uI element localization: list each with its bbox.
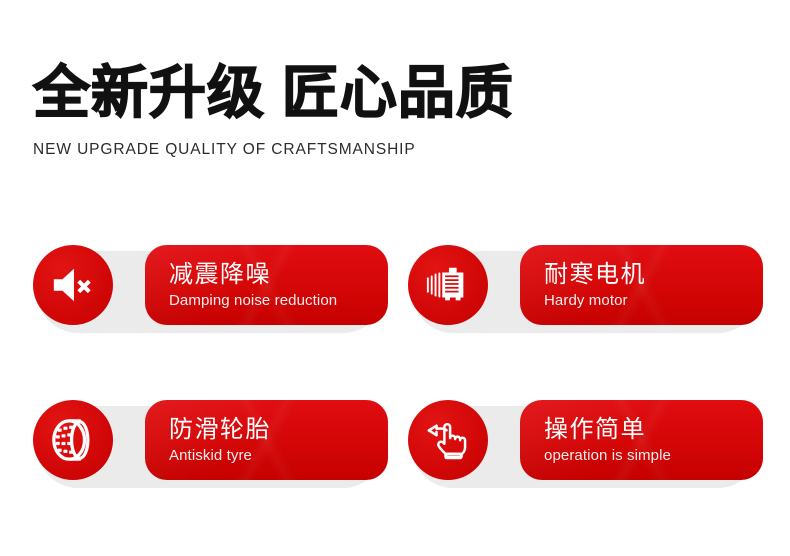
feature-card-antiskid-tyre: 防滑轮胎 Antiskid tyre [33,400,388,495]
pointing-hand-swipe-icon [408,400,488,480]
feature-card-operation-simple: 操作简单 operation is simple [408,400,763,495]
feature-plate: 耐寒电机 Hardy motor [520,245,763,325]
promo-banner: 全新升级 匠心品质 NEW UPGRADE QUALITY OF CRAFTSM… [0,0,790,556]
feature-title-cn: 操作简单 [544,415,763,444]
feature-title-cn: 防滑轮胎 [169,415,388,444]
tire-icon [33,400,113,480]
feature-title-cn: 减震降噪 [169,260,388,289]
page-subtitle: NEW UPGRADE QUALITY OF CRAFTSMANSHIP [33,140,753,160]
feature-title-en: Damping noise reduction [169,291,388,310]
feature-card-hardy-motor: 耐寒电机 Hardy motor [408,245,763,340]
feature-title-cn: 耐寒电机 [544,260,763,289]
electric-motor-icon [408,245,488,325]
feature-plate: 防滑轮胎 Antiskid tyre [145,400,388,480]
feature-plate: 操作简单 operation is simple [520,400,763,480]
feature-title-en: Antiskid tyre [169,446,388,465]
speaker-mute-icon [33,245,113,325]
header: 全新升级 匠心品质 NEW UPGRADE QUALITY OF CRAFTSM… [33,58,753,160]
feature-plate: 减震降噪 Damping noise reduction [145,245,388,325]
feature-grid: 减震降噪 Damping noise reduction [33,245,763,495]
feature-title-en: operation is simple [544,446,763,465]
feature-card-damping-noise-reduction: 减震降噪 Damping noise reduction [33,245,388,340]
page-title: 全新升级 匠心品质 [33,58,753,128]
feature-title-en: Hardy motor [544,291,763,310]
